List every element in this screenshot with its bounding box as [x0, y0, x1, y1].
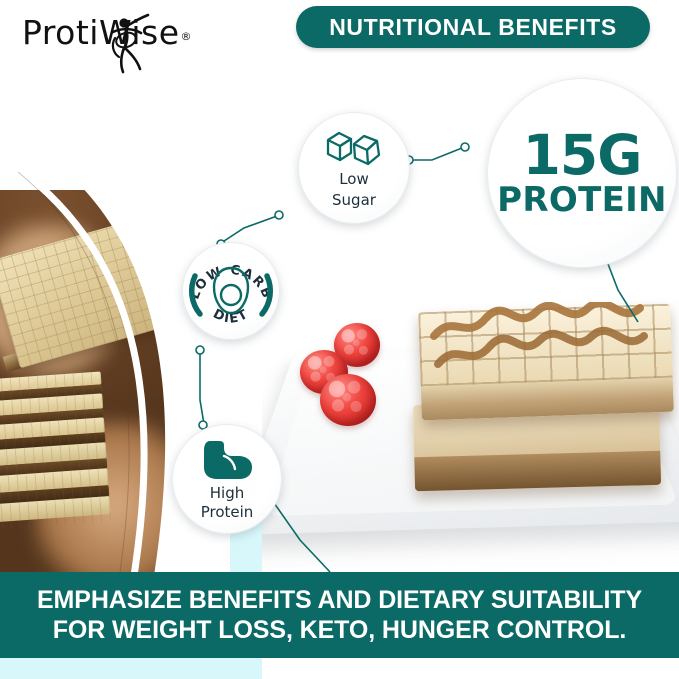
- badge-low-sugar-line2: Sugar: [332, 193, 376, 209]
- infographic-canvas: ProtiWise ® NUTRITIONAL BENEFITS: [0, 0, 679, 679]
- badge-low-carb-diet: LOW CARB DIET: [182, 242, 280, 340]
- svg-text:DIET: DIET: [210, 307, 251, 327]
- protein-value: 15G: [523, 129, 642, 183]
- low-carb-diet-emblem: LOW CARB DIET: [184, 244, 278, 338]
- caption-line-1: EMPHASIZE BENEFITS AND DIETARY SUITABILI…: [37, 585, 642, 616]
- badge-high-protein: High Protein: [172, 424, 282, 534]
- badge-high-protein-line1: High: [210, 486, 244, 502]
- low-carb-bottom-text: DIET: [210, 307, 251, 327]
- protein-word: PROTEIN: [497, 183, 667, 217]
- sugar-cubes-icon: [324, 127, 384, 167]
- caption-banner: EMPHASIZE BENEFITS AND DIETARY SUITABILI…: [0, 572, 679, 658]
- badge-protein: 15G PROTEIN: [487, 78, 677, 268]
- badge-low-sugar-line1: Low: [339, 172, 369, 188]
- badge-low-sugar: Low Sugar: [298, 112, 410, 224]
- badge-high-protein-line2: Protein: [201, 505, 254, 521]
- flexed-bicep-icon: [199, 437, 255, 483]
- caption-line-2: FOR WEIGHT LOSS, KETO, HUNGER CONTROL.: [53, 615, 627, 646]
